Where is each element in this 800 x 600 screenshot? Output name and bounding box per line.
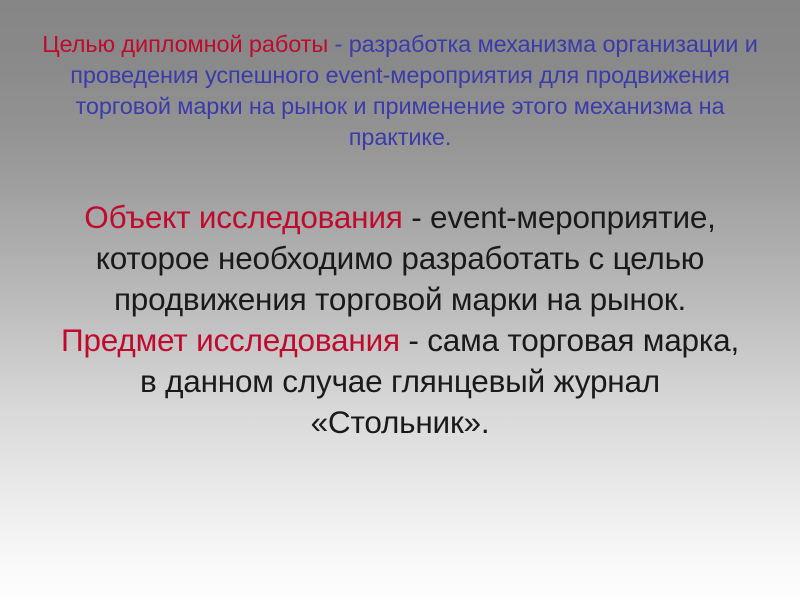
goal-highlight-text: Целью дипломной работы	[42, 31, 334, 57]
goal-paragraph: Целью дипломной работы - разработка меха…	[0, 29, 800, 153]
research-paragraph: Объект исследования - event-мероприятие,…	[0, 197, 800, 443]
presentation-slide: Целью дипломной работы - разработка меха…	[0, 0, 800, 600]
research-object-highlight-text: Объект исследования	[84, 199, 402, 235]
research-subject-highlight-text: Предмет исследования	[61, 322, 400, 358]
